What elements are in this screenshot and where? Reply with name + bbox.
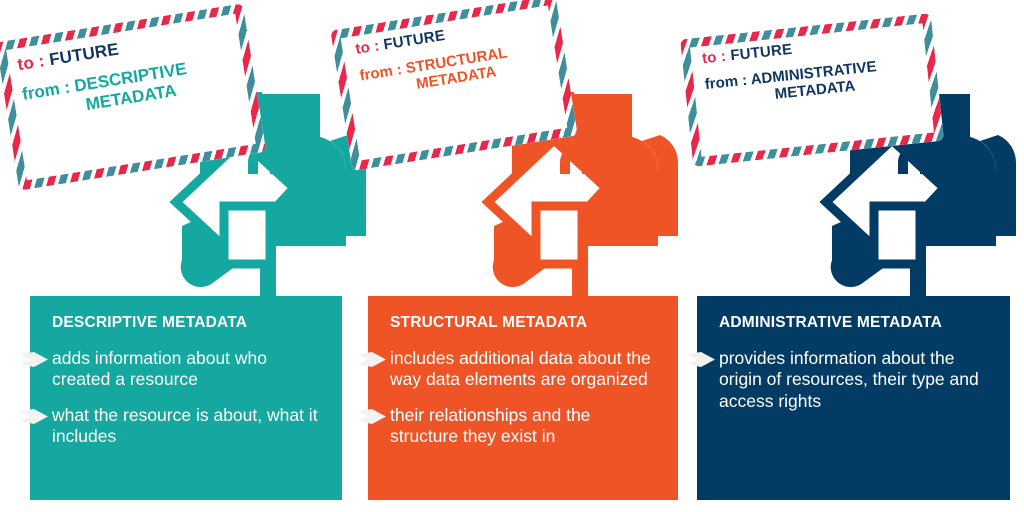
envelope-to-value: FUTURE bbox=[382, 27, 446, 53]
bullet-item: what the resource is about, what it incl… bbox=[52, 405, 326, 448]
bullet-text: adds information about who created a res… bbox=[52, 348, 326, 391]
bullet-text: provides information about the origin of… bbox=[719, 348, 994, 412]
bullet-item: adds information about who created a res… bbox=[52, 348, 326, 391]
envelope-to-label: to : bbox=[16, 51, 46, 74]
bullet-list: provides information about the origin of… bbox=[719, 348, 994, 412]
bullet-text: includes additional data about the way d… bbox=[390, 348, 662, 391]
envelope-to-label: to : bbox=[354, 37, 380, 58]
panel-title: ADMINISTRATIVE METADATA bbox=[719, 314, 994, 332]
bullet-item: provides information about the origin of… bbox=[719, 348, 994, 412]
envelope-to-value: FUTURE bbox=[730, 41, 793, 64]
arrow-bullet-icon bbox=[687, 352, 715, 367]
bullet-text: their relationships and the structure th… bbox=[390, 405, 662, 448]
infographic-canvas: to : FUTURE from : DESCRIPTIVE METADATA … bbox=[0, 0, 1024, 512]
panel-descriptive-metadata: DESCRIPTIVE METADATA adds information ab… bbox=[30, 296, 342, 500]
arrow-bullet-icon bbox=[20, 409, 48, 424]
arrow-bullet-icon bbox=[20, 352, 48, 367]
panel-title: DESCRIPTIVE METADATA bbox=[52, 314, 326, 332]
panel-title: STRUCTURAL METADATA bbox=[390, 314, 662, 332]
panel-structural-metadata: STRUCTURAL METADATA includes additional … bbox=[368, 296, 678, 500]
arrow-bullet-icon bbox=[358, 352, 386, 367]
arrow-bullet-icon bbox=[358, 409, 386, 424]
bullet-list: adds information about who created a res… bbox=[52, 348, 326, 447]
bullet-list: includes additional data about the way d… bbox=[390, 348, 662, 447]
envelope-to-label: to : bbox=[701, 48, 727, 67]
envelope-administrative: to : FUTURE from : ADMINISTRATIVE METADA… bbox=[680, 13, 944, 167]
envelope-to-value: FUTURE bbox=[48, 39, 120, 69]
bullet-item: their relationships and the structure th… bbox=[390, 405, 662, 448]
bullet-item: includes additional data about the way d… bbox=[390, 348, 662, 391]
panel-administrative-metadata: ADMINISTRATIVE METADATA provides informa… bbox=[697, 296, 1010, 500]
bullet-text: what the resource is about, what it incl… bbox=[52, 405, 326, 448]
